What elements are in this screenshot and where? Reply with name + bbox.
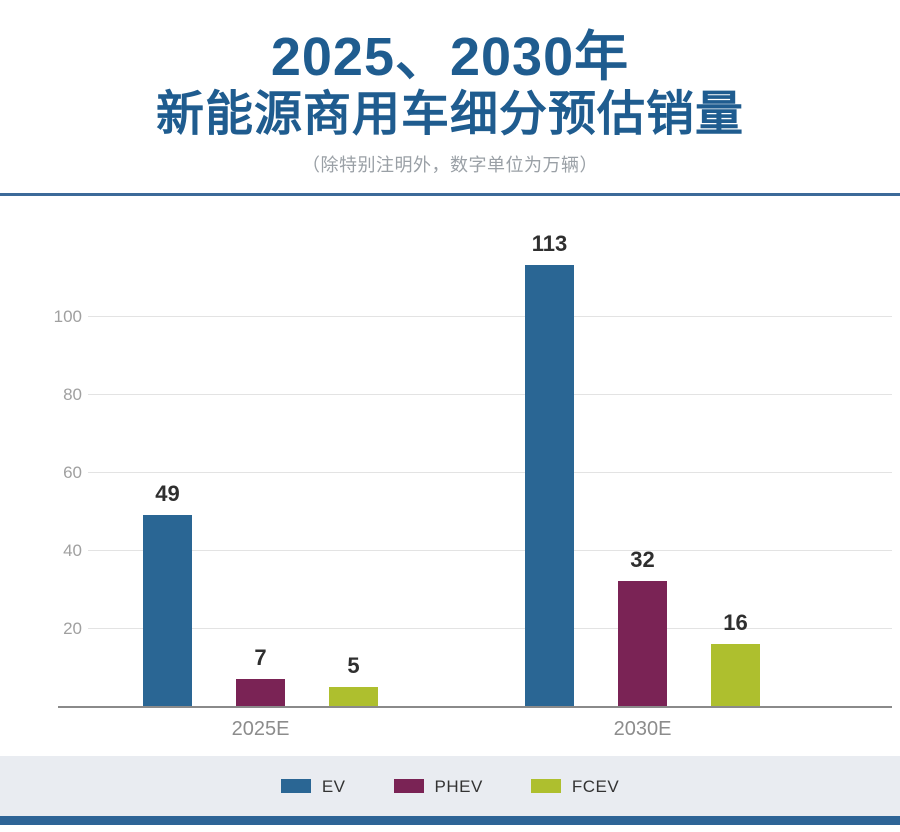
gridline [88, 550, 892, 551]
bar-ev-2030e[interactable] [525, 265, 574, 706]
bar-fcev-2030e[interactable] [711, 644, 760, 706]
legend-item-label: FCEV [572, 778, 619, 795]
legend-swatch-icon [281, 779, 311, 793]
legend-item-fcev[interactable]: FCEV [531, 778, 619, 795]
chart-header: 2025、2030年 新能源商用车细分预估销量 （除特别注明外，数字单位为万辆） [0, 0, 900, 194]
legend-item-label: EV [322, 778, 346, 795]
bar-value-label: 32 [593, 549, 692, 571]
bar-fcev-2025e[interactable] [329, 687, 378, 707]
bar-value-label: 5 [304, 655, 403, 677]
bar-value-label: 49 [118, 483, 217, 505]
bar-phev-2030e[interactable] [618, 581, 667, 706]
y-axis-tick-label: 100 [36, 308, 82, 325]
footer-accent-bar [0, 816, 900, 825]
page-title-line2: 新能源商用车细分预估销量 [0, 86, 900, 144]
chart-plot-area: 2040608010049752025E11332162030E [0, 196, 900, 756]
legend-item-ev[interactable]: EV [281, 778, 346, 795]
legend-item-phev[interactable]: PHEV [394, 778, 483, 795]
legend-swatch-icon [531, 779, 561, 793]
y-axis-tick-label: 80 [36, 386, 82, 403]
gridline [88, 472, 892, 473]
bar-value-label: 113 [500, 233, 599, 255]
bar-value-label: 7 [211, 647, 310, 669]
y-axis-tick-label: 20 [36, 620, 82, 637]
x-axis-line [58, 706, 892, 708]
chart-legend: EVPHEVFCEV [0, 756, 900, 816]
legend-item-label: PHEV [435, 778, 483, 795]
y-axis-tick-label: 40 [36, 542, 82, 559]
page-subtitle: （除特别注明外，数字单位为万辆） [0, 152, 900, 178]
gridline [88, 316, 892, 317]
bar-value-label: 16 [686, 612, 785, 634]
page-title-line1: 2025、2030年 [0, 26, 900, 88]
y-axis-tick-label: 60 [36, 464, 82, 481]
x-axis-category-label: 2030E [465, 718, 820, 740]
x-axis-category-label: 2025E [83, 718, 438, 740]
bar-ev-2025e[interactable] [143, 515, 192, 706]
bar-phev-2025e[interactable] [236, 679, 285, 706]
legend-swatch-icon [394, 779, 424, 793]
gridline [88, 394, 892, 395]
